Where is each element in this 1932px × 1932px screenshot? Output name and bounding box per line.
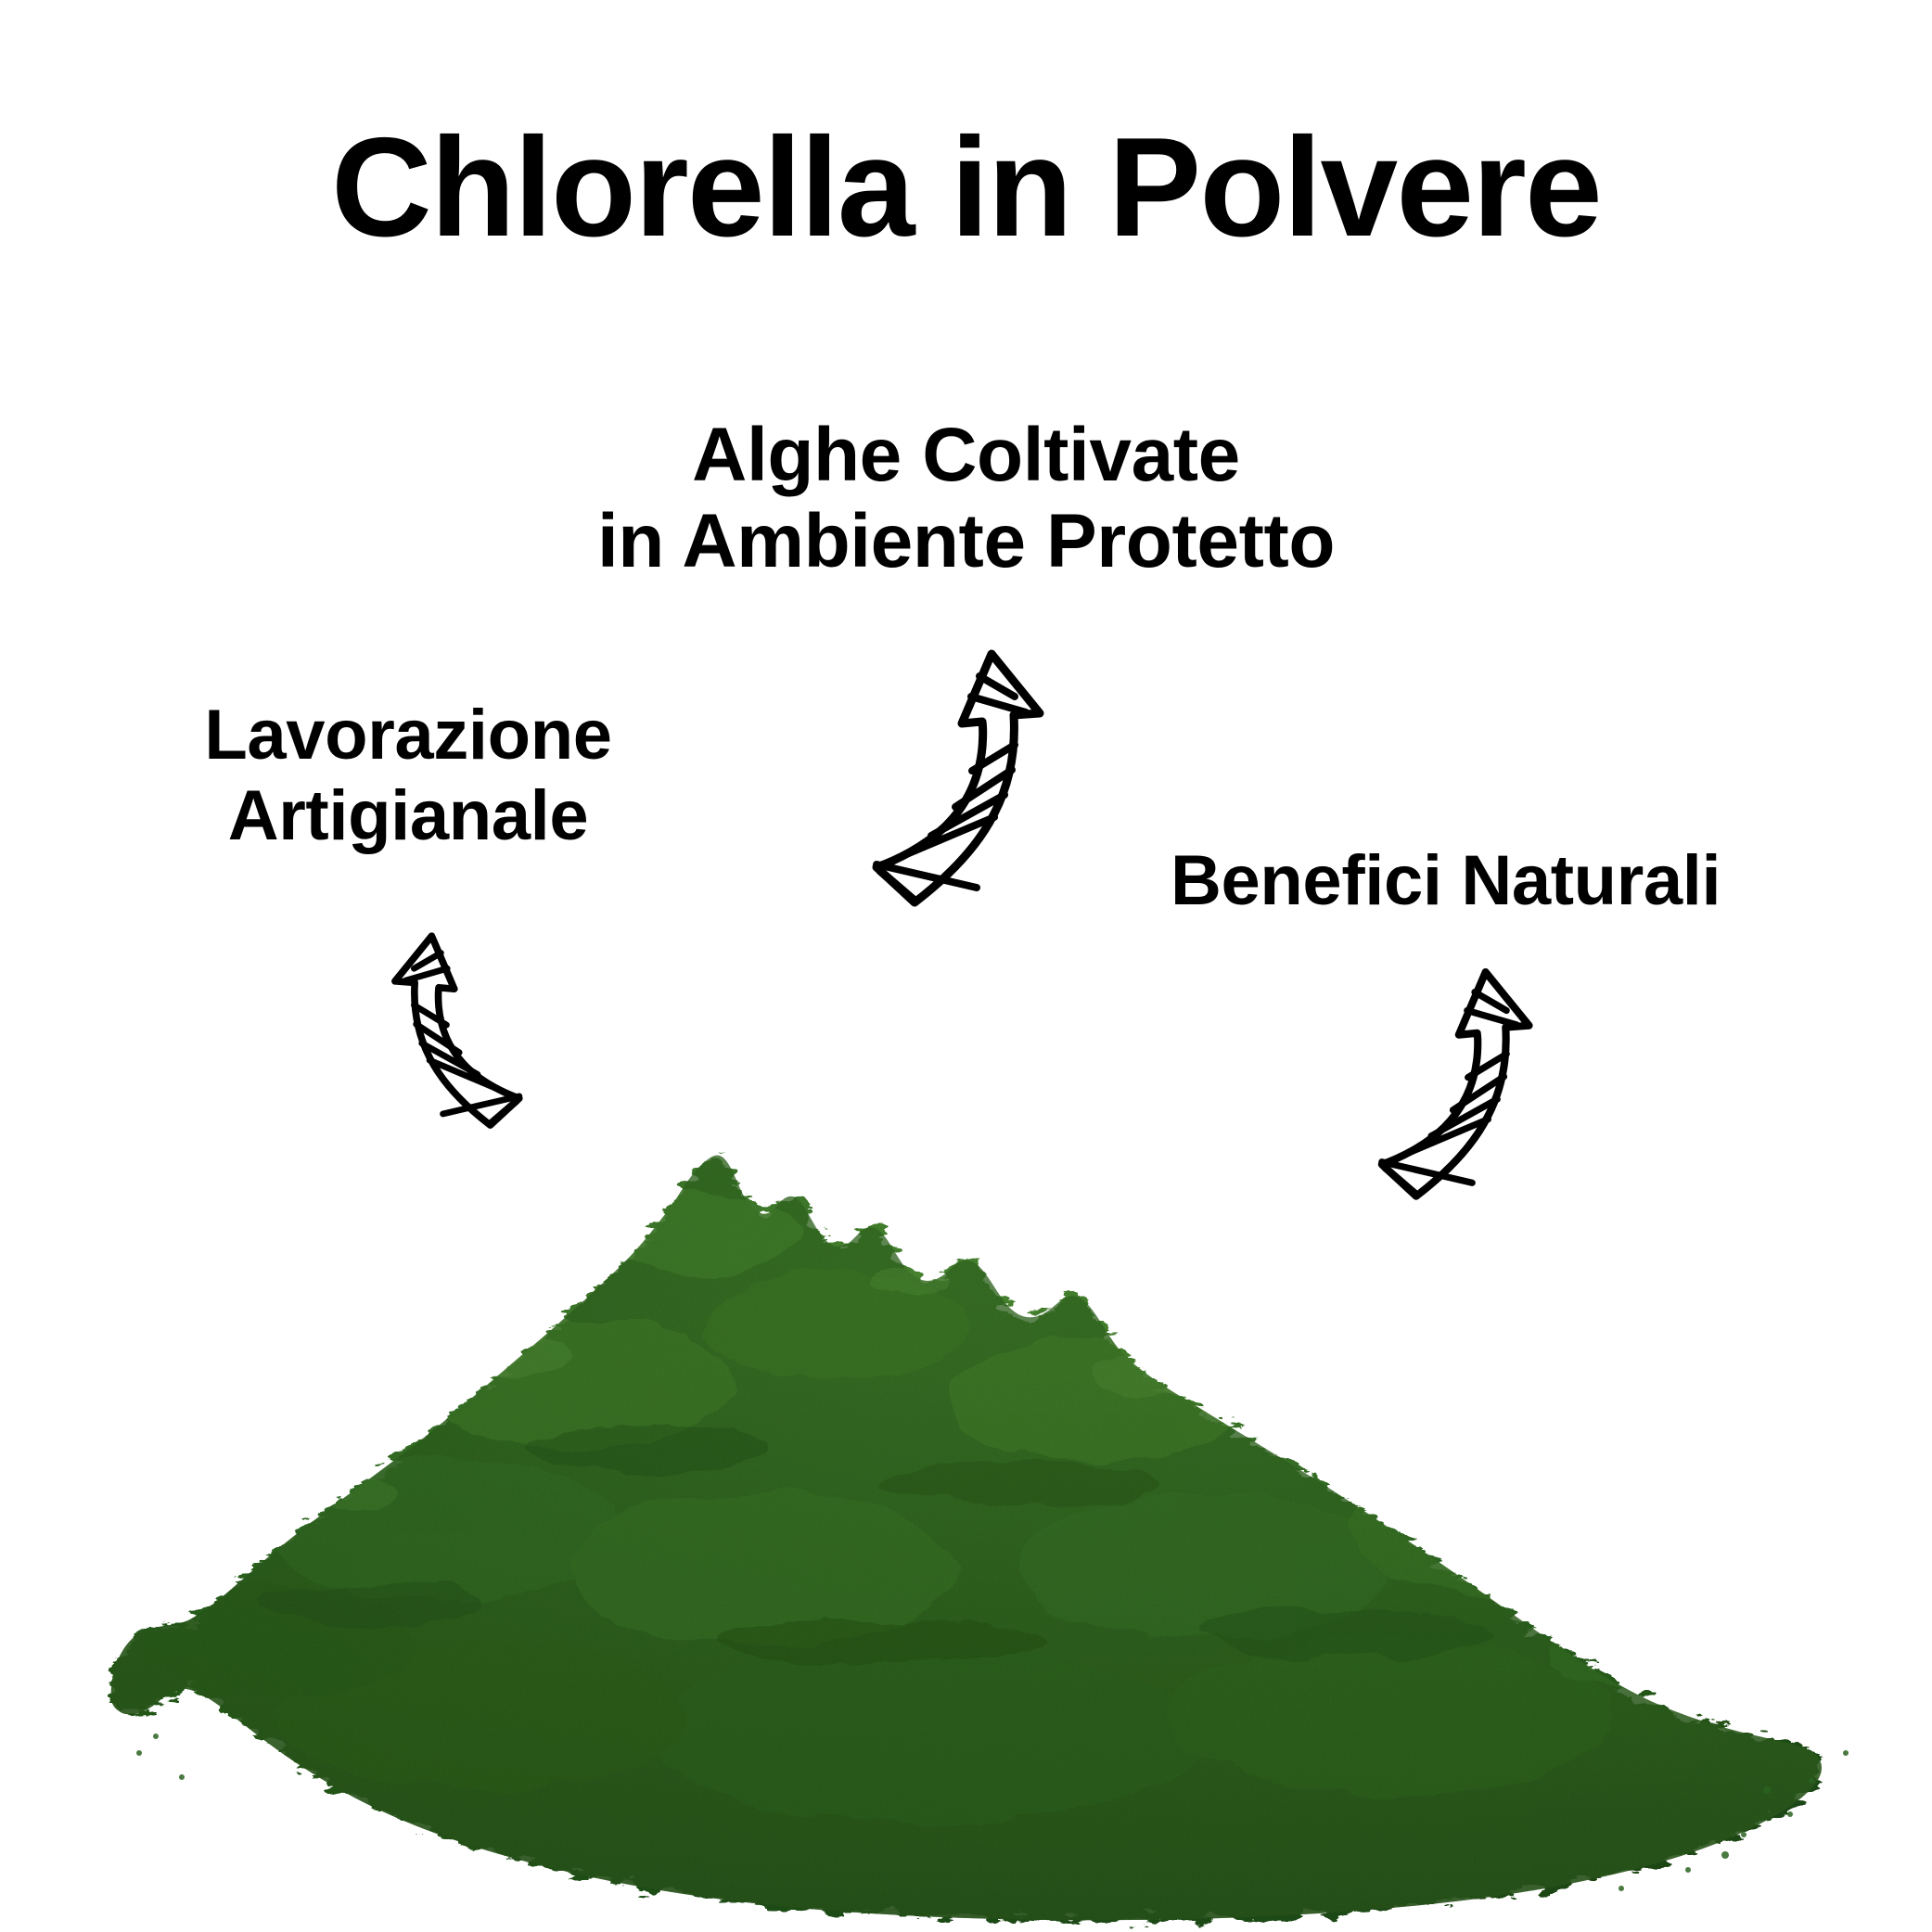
- chlorella-powder-mound: [0, 1048, 1932, 1932]
- curved-arrow-up-icon: [858, 635, 1071, 918]
- subtitle: Alghe Coltivate in Ambiente Protetto: [0, 413, 1932, 584]
- feature-label-lavorazione-artigianale: Lavorazione Artigianale: [111, 696, 705, 856]
- product-image: [0, 1048, 1932, 1932]
- page-title: Chlorella in Polvere: [9, 113, 1922, 262]
- poster-canvas: Chlorella in Polvere Alghe Coltivate in …: [0, 0, 1932, 1932]
- feature-label-benefici-naturali: Benefici Naturali: [1104, 844, 1901, 919]
